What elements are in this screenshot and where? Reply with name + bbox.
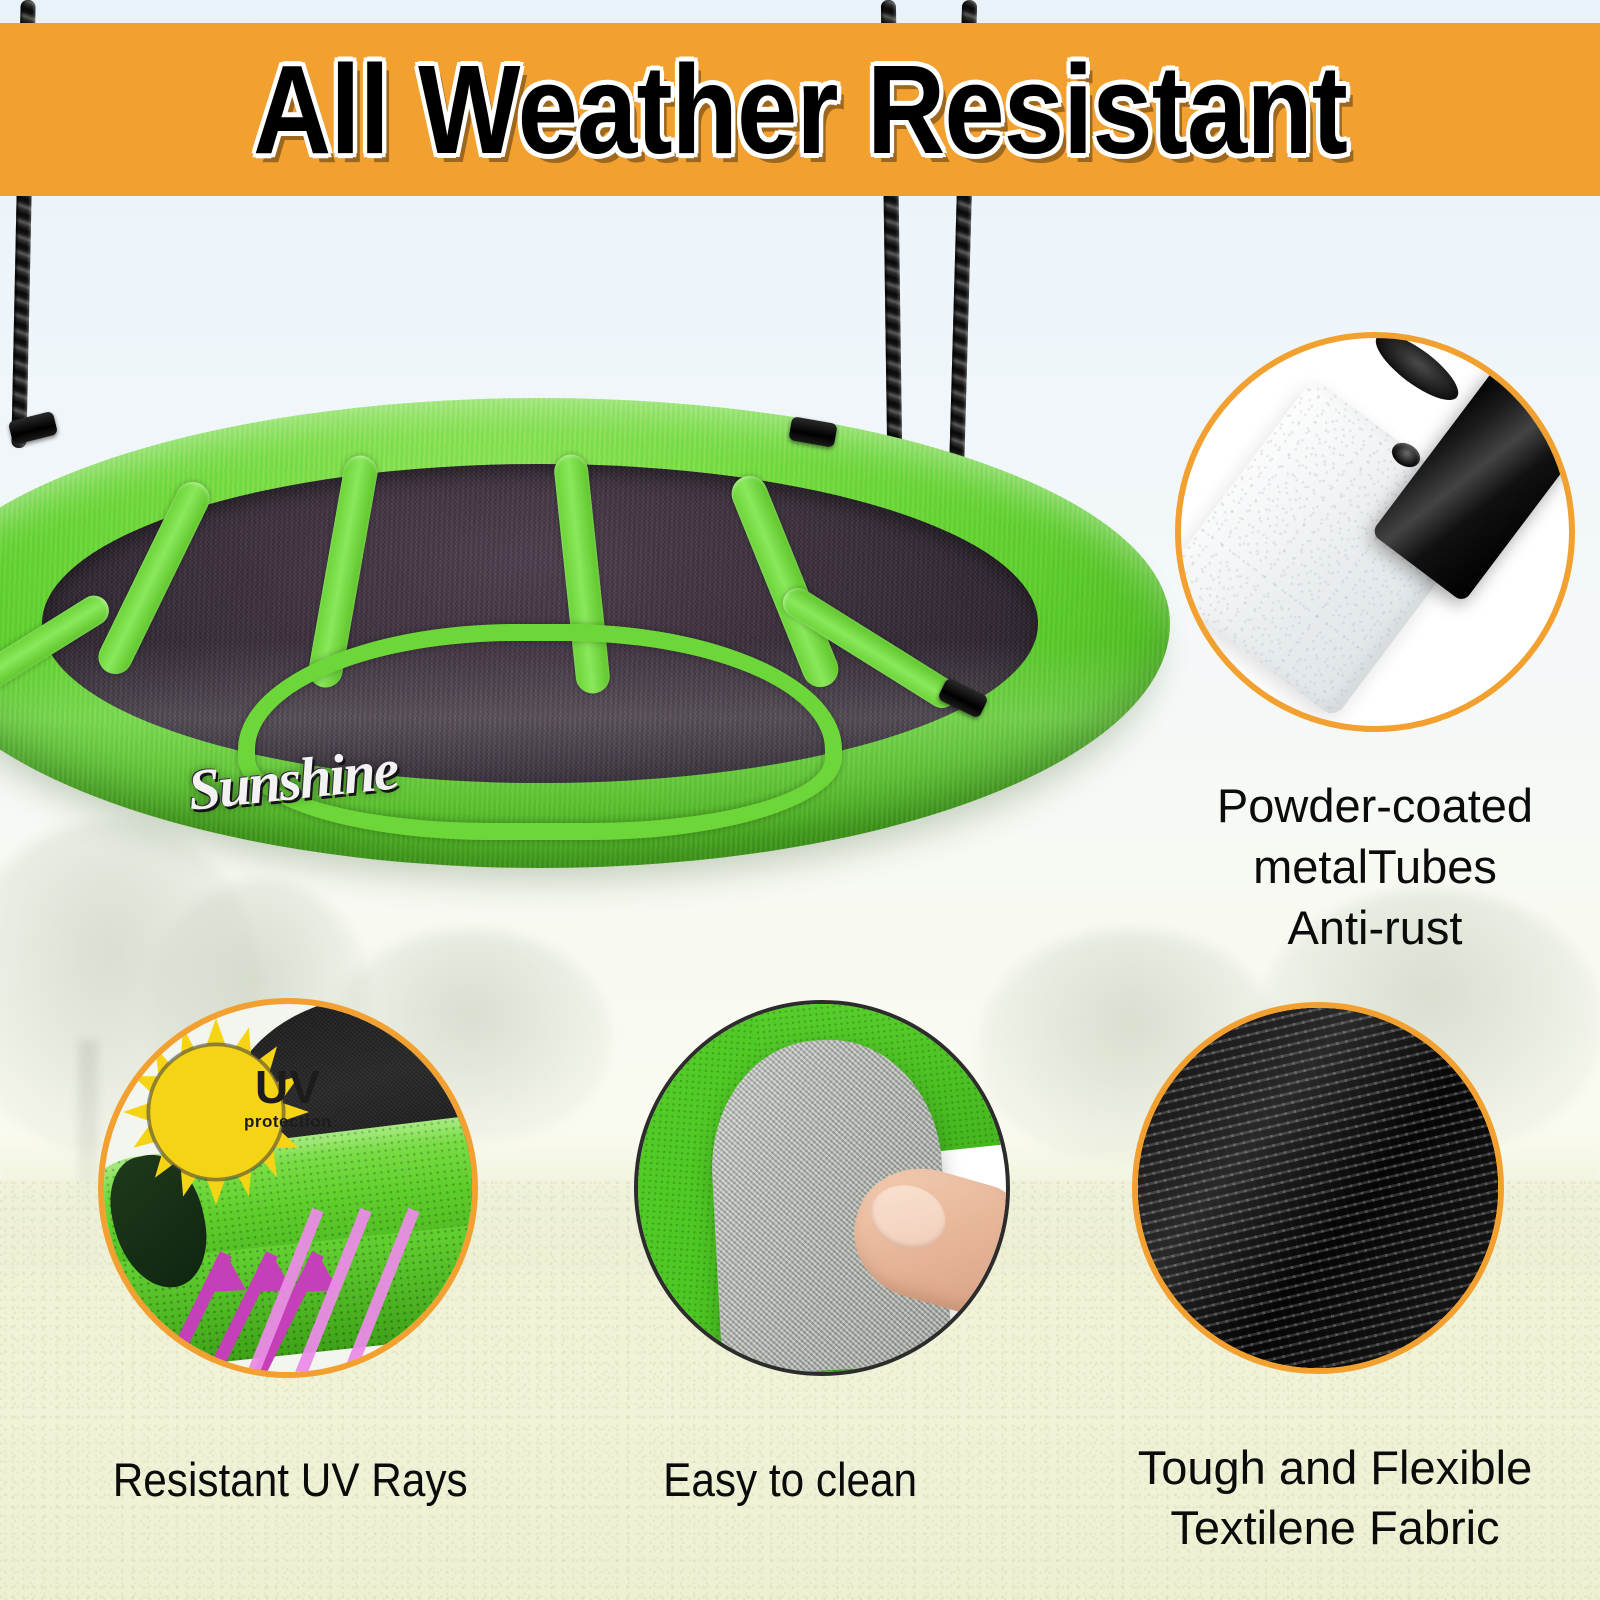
caption-line: Powder-coated: [1160, 775, 1590, 836]
caption-line: Resistant UV Rays: [113, 1452, 468, 1507]
feature-circle-powder-coated-tubes: [1175, 332, 1575, 732]
sun-icon: [122, 1018, 310, 1206]
caption-line: metalTubes: [1160, 836, 1590, 897]
feature-circle-uv-resistant: UV protection: [98, 998, 478, 1378]
page-title: All Weather Resistant: [253, 47, 1347, 173]
caption-line: Easy to clean: [663, 1452, 917, 1507]
swing-seat: Sunshine: [0, 398, 1170, 868]
header-banner: All Weather Resistant: [0, 23, 1600, 196]
caption-powder-coated-tubes: Powder-coated metalTubes Anti-rust: [1160, 775, 1590, 958]
mesh-sheen: [1138, 1008, 1498, 1368]
caption-line: Textilene Fabric: [1085, 1498, 1585, 1558]
caption-line: Anti-rust: [1160, 897, 1590, 958]
caption-line: Tough and Flexible: [1085, 1438, 1585, 1498]
feature-circle-textilene-fabric: [1132, 1002, 1504, 1374]
caption-textilene-fabric: Tough and Flexible Textilene Fabric: [1085, 1438, 1585, 1558]
feature-circle-easy-to-clean: [634, 1000, 1010, 1376]
caption-easy-to-clean: Easy to clean: [570, 1452, 1010, 1507]
rope-clip: [8, 411, 58, 445]
caption-uv-resistant: Resistant UV Rays: [40, 1452, 540, 1507]
